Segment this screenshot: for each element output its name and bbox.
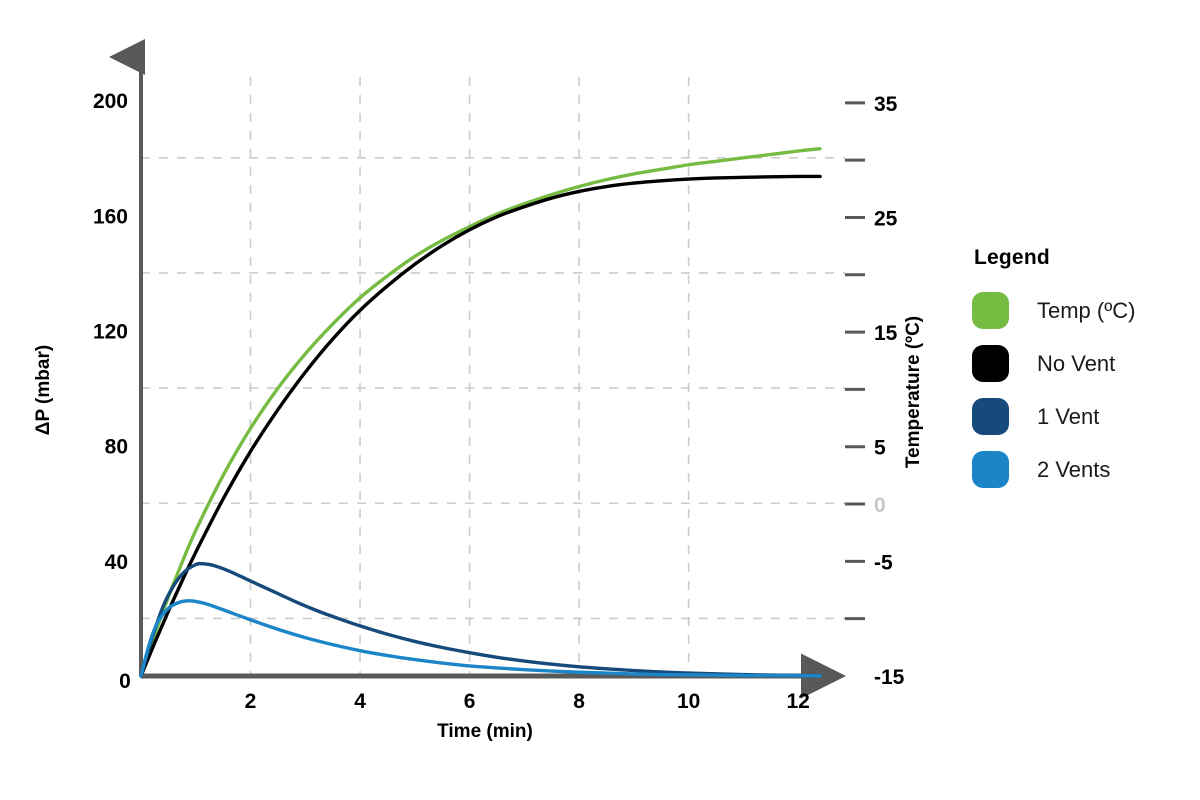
y2-tick-label: -15: [874, 666, 905, 689]
legend-swatch-icon: [972, 345, 1009, 382]
x-tick-label: 8: [573, 690, 585, 713]
x-tick-label: 4: [354, 690, 366, 713]
gridlines: [141, 77, 845, 676]
y2-tick-label: 35: [874, 93, 898, 116]
y-tick-label: 200: [93, 90, 128, 113]
y-tick-labels: 4080120160200: [93, 90, 128, 574]
y2-tick-label: 25: [874, 207, 898, 230]
series-line-1-vent: [141, 564, 820, 676]
y2-tick-label: -5: [874, 551, 893, 574]
series-lines: [141, 149, 820, 676]
legend-swatch-icon: [972, 398, 1009, 435]
y2-tick-label: 5: [874, 437, 886, 460]
legend-title: Legend: [974, 246, 1192, 270]
x-tick-label: 10: [677, 690, 700, 713]
series-line-no-vent: [141, 176, 820, 676]
x-tick-label: 2: [245, 690, 257, 713]
y2-tick-labels: -15-505152535: [874, 93, 905, 689]
legend-item-label: 2 Vents: [1037, 457, 1110, 483]
y-tick-label: 160: [93, 205, 128, 228]
legend-item-label: Temp (ºC): [1037, 298, 1135, 324]
x-axis-title: Time (min): [437, 721, 533, 742]
y2-tick-label: 15: [874, 322, 898, 345]
y-tick-label: 40: [105, 551, 128, 574]
legend-swatch-icon: [972, 292, 1009, 329]
y2-axis-title: Temperature (ºC): [903, 316, 924, 468]
y2-tick-label: 0: [874, 494, 886, 517]
legend-item-label: 1 Vent: [1037, 404, 1099, 430]
legend-item[interactable]: 1 Vent: [972, 390, 1192, 443]
legend-items: Temp (ºC)No Vent1 Vent2 Vents: [972, 284, 1192, 496]
legend: Legend Temp (ºC)No Vent1 Vent2 Vents: [972, 246, 1192, 496]
right-axis-ticks: [845, 103, 865, 619]
chart-canvas: 024681012 4080120160200 -15-505152535 Ti…: [0, 0, 1200, 800]
series-line-temp-c: [141, 149, 820, 676]
legend-item-label: No Vent: [1037, 351, 1115, 377]
x-tick-label: 6: [464, 690, 476, 713]
legend-item[interactable]: 2 Vents: [972, 443, 1192, 496]
x-tick-label: 12: [786, 690, 809, 713]
y-tick-label: 120: [93, 321, 128, 344]
series-line-2-vents: [141, 601, 820, 676]
legend-swatch-icon: [972, 451, 1009, 488]
legend-item[interactable]: No Vent: [972, 337, 1192, 390]
x-tick-label: 0: [119, 670, 131, 693]
y-tick-label: 80: [105, 436, 128, 459]
legend-item[interactable]: Temp (ºC): [972, 284, 1192, 337]
y-axis-title: ΔP (mbar): [33, 345, 54, 435]
